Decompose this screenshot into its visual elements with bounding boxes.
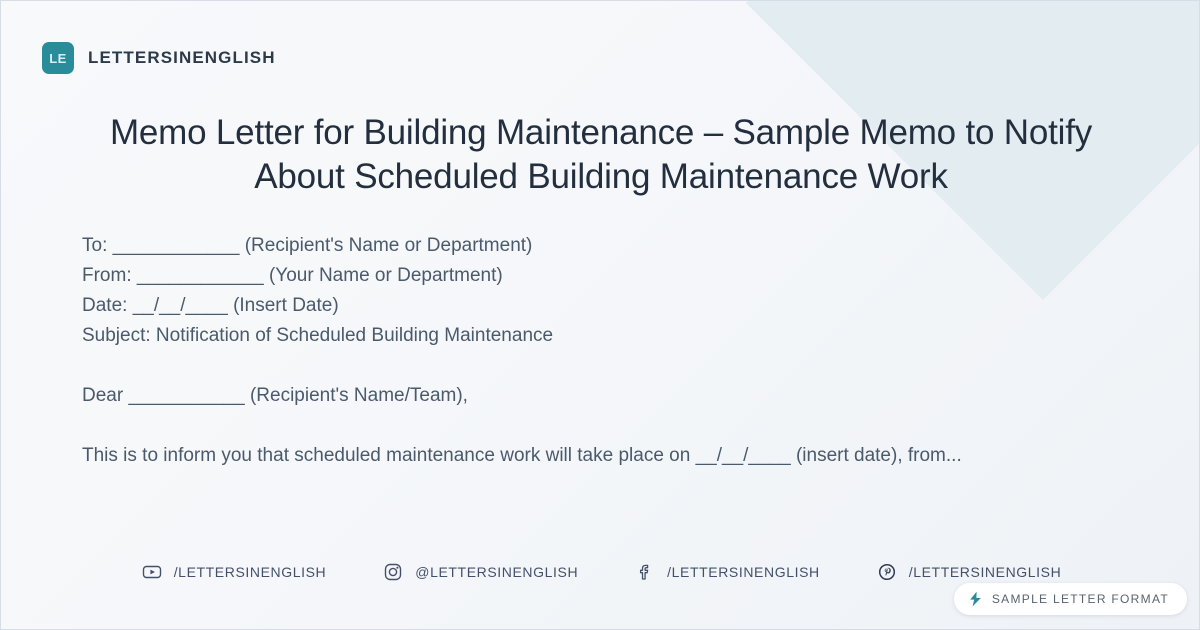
page-title: Memo Letter for Building Maintenance – S…: [101, 111, 1101, 199]
letter-paragraph: This is to inform you that scheduled mai…: [82, 441, 1092, 471]
lightning-bolt-icon: [968, 591, 983, 607]
letter-date-line: Date: __/__/____ (Insert Date): [82, 291, 1092, 321]
letter-to-line: To: ____________ (Recipient's Name or De…: [82, 231, 1092, 261]
social-handle-label: /LETTERSINENGLISH: [667, 564, 820, 580]
social-link-facebook[interactable]: /LETTERSINENGLISH: [634, 561, 820, 583]
pinterest-icon: [876, 561, 898, 583]
social-handle-label: @LETTERSINENGLISH: [415, 564, 578, 580]
brand-logo[interactable]: LE LETTERSINENGLISH: [42, 42, 276, 74]
letter-salutation: Dear ___________ (Recipient's Name/Team)…: [82, 381, 1092, 411]
letter-spacer-1: [82, 351, 1092, 381]
letter-spacer-2: [82, 411, 1092, 441]
badge-label: SAMPLE LETTER FORMAT: [992, 592, 1169, 606]
letter-from-line: From: ____________ (Your Name or Departm…: [82, 261, 1092, 291]
social-link-youtube[interactable]: /LETTERSINENGLISH: [141, 561, 327, 583]
letter-body: To: ____________ (Recipient's Name or De…: [82, 231, 1092, 471]
social-link-pinterest[interactable]: /LETTERSINENGLISH: [876, 561, 1062, 583]
letter-subject-line: Subject: Notification of Scheduled Build…: [82, 321, 1092, 351]
youtube-icon: [141, 561, 163, 583]
brand-mark-icon: LE: [42, 42, 74, 74]
facebook-icon: [634, 561, 656, 583]
instagram-icon: [382, 561, 404, 583]
card-content: LE LETTERSINENGLISH Memo Letter for Buil…: [1, 1, 1199, 629]
social-handle-label: /LETTERSINENGLISH: [909, 564, 1062, 580]
sample-format-badge[interactable]: SAMPLE LETTER FORMAT: [954, 583, 1187, 615]
brand-name-label: LETTERSINENGLISH: [88, 48, 276, 68]
social-links-row: /LETTERSINENGLISH @LETTERSINENGLISH: [1, 561, 1200, 583]
share-card: LE LETTERSINENGLISH Memo Letter for Buil…: [0, 0, 1200, 630]
social-link-instagram[interactable]: @LETTERSINENGLISH: [382, 561, 578, 583]
social-handle-label: /LETTERSINENGLISH: [174, 564, 327, 580]
